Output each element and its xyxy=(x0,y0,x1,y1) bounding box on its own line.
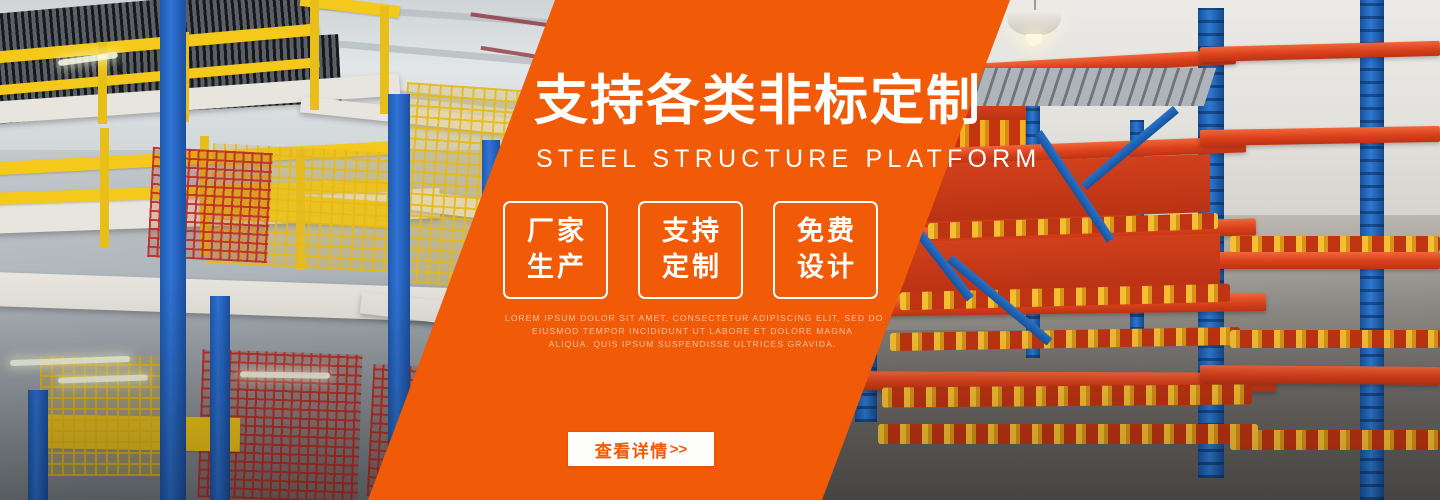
description-line-2: EIUSMOD TEMPOR INCIDIDUNT UT LABORE ET D… xyxy=(505,325,880,338)
feature-badge-line2: 生产 xyxy=(524,250,587,286)
description-line-3: ALIQUA. QUIS IPSUM SUSPENDISSE ULTRICES … xyxy=(505,338,880,351)
feature-badge-customization[interactable]: 支持 定制 xyxy=(638,201,743,299)
feature-badge-line2: 定制 xyxy=(659,250,722,286)
feature-badge-list: 厂家 生产 支持 定制 免费 设计 xyxy=(503,201,878,299)
view-details-label: 查看详情 xyxy=(595,437,669,462)
banner-description: LOREM IPSUM DOLOR SIT AMET, CONSECTETUR … xyxy=(505,312,880,351)
feature-badge-line1: 免费 xyxy=(794,214,857,250)
view-details-button[interactable]: 查看详情 >> xyxy=(568,432,714,466)
feature-badge-free-design[interactable]: 免费 设计 xyxy=(773,201,878,299)
banner-headline: 支持各类非标定制 xyxy=(534,70,982,132)
banner-content: 支持各类非标定制 STEEL STRUCTURE PLATFORM 厂家 生产 … xyxy=(0,0,1440,500)
banner-subheadline: STEEL STRUCTURE PLATFORM xyxy=(536,145,1041,174)
chevron-right-double-icon: >> xyxy=(670,441,688,458)
feature-badge-line1: 厂家 xyxy=(524,214,587,250)
feature-badge-manufacturer[interactable]: 厂家 生产 xyxy=(503,201,608,299)
promo-banner: 支持各类非标定制 STEEL STRUCTURE PLATFORM 厂家 生产 … xyxy=(0,0,1440,500)
description-line-1: LOREM IPSUM DOLOR SIT AMET, CONSECTETUR … xyxy=(505,312,880,325)
feature-badge-line2: 设计 xyxy=(794,250,857,286)
feature-badge-line1: 支持 xyxy=(659,214,722,250)
